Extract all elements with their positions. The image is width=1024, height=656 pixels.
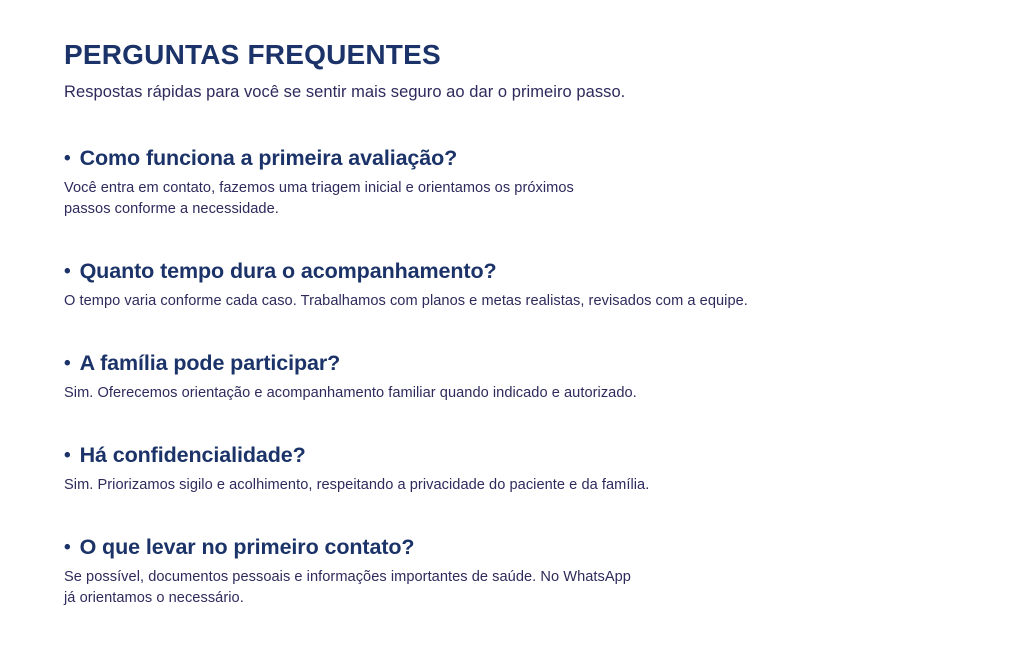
faq-item: • Quanto tempo dura o acompanhamento? O …: [64, 258, 984, 312]
faq-question-text: A família pode participar?: [80, 350, 341, 377]
faq-question: • A família pode participar?: [64, 350, 984, 377]
faq-item: • O que levar no primeiro contato? Se po…: [64, 534, 984, 609]
faq-answer: Você entra em contato, fazemos uma triag…: [64, 178, 964, 220]
bullet-icon: •: [64, 354, 71, 373]
faq-question: • Como funciona a primeira avaliação?: [64, 145, 984, 172]
faq-item: • Há confidencialidade? Sim. Priorizamos…: [64, 442, 984, 496]
faq-item: • A família pode participar? Sim. Oferec…: [64, 350, 984, 404]
faq-question: • Há confidencialidade?: [64, 442, 984, 469]
faq-question: • O que levar no primeiro contato?: [64, 534, 984, 561]
bullet-icon: •: [64, 446, 71, 465]
page-title: PERGUNTAS FREQUENTES: [64, 38, 984, 72]
page-subtitle: Respostas rápidas para você se sentir ma…: [64, 81, 984, 103]
faq-question-text: O que levar no primeiro contato?: [80, 534, 415, 561]
faq-page: PERGUNTAS FREQUENTES Respostas rápidas p…: [0, 0, 1024, 656]
faq-question-text: Quanto tempo dura o acompanhamento?: [80, 258, 497, 285]
bullet-icon: •: [64, 262, 71, 281]
faq-question: • Quanto tempo dura o acompanhamento?: [64, 258, 984, 285]
faq-answer: Sim. Oferecemos orientação e acompanhame…: [64, 383, 964, 404]
faq-list: • Como funciona a primeira avaliação? Vo…: [64, 145, 984, 609]
faq-answer: Sim. Priorizamos sigilo e acolhimento, r…: [64, 475, 964, 496]
bullet-icon: •: [64, 538, 71, 557]
faq-answer: O tempo varia conforme cada caso. Trabal…: [64, 291, 964, 312]
faq-question-text: Como funciona a primeira avaliação?: [80, 145, 458, 172]
faq-answer: Se possível, documentos pessoais e infor…: [64, 567, 964, 609]
bullet-icon: •: [64, 149, 71, 168]
faq-question-text: Há confidencialidade?: [80, 442, 306, 469]
faq-item: • Como funciona a primeira avaliação? Vo…: [64, 145, 984, 220]
